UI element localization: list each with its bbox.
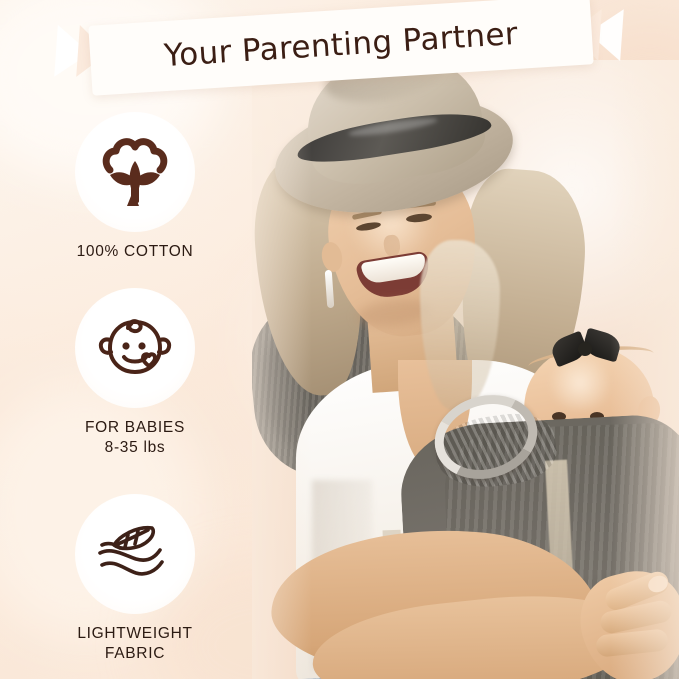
feature-label-line1: 100% COTTON: [77, 243, 194, 260]
feature-lightweight: LIGHTWEIGHT FABRIC: [52, 494, 218, 664]
baby-face-icon: [95, 313, 175, 383]
feather-fabric-icon: [94, 521, 176, 587]
feature-cotton: 100% COTTON: [52, 112, 218, 262]
feature-label: 100% COTTON: [52, 242, 218, 262]
feature-label-line1: LIGHTWEIGHT: [77, 625, 192, 642]
page-title: Your Parenting Partner: [88, 0, 593, 96]
badge-circle: [75, 288, 195, 408]
cotton-boll-icon: [96, 133, 174, 211]
lifestyle-photo: [252, 60, 679, 679]
photo-edge-fade: [252, 60, 679, 679]
feature-label-line2: FABRIC: [52, 644, 218, 664]
badge-circle: [75, 112, 195, 232]
badge-circle: [75, 494, 195, 614]
feature-label-line2: 8-35 lbs: [52, 438, 218, 458]
feature-label: FOR BABIES 8-35 lbs: [52, 418, 218, 458]
product-infographic: Your Parenting Partner 100% COTTON: [0, 0, 679, 679]
feature-babies: FOR BABIES 8-35 lbs: [52, 288, 218, 458]
feature-label-line1: FOR BABIES: [85, 419, 185, 436]
feature-label: LIGHTWEIGHT FABRIC: [52, 624, 218, 664]
banner: Your Parenting Partner: [56, 4, 622, 102]
